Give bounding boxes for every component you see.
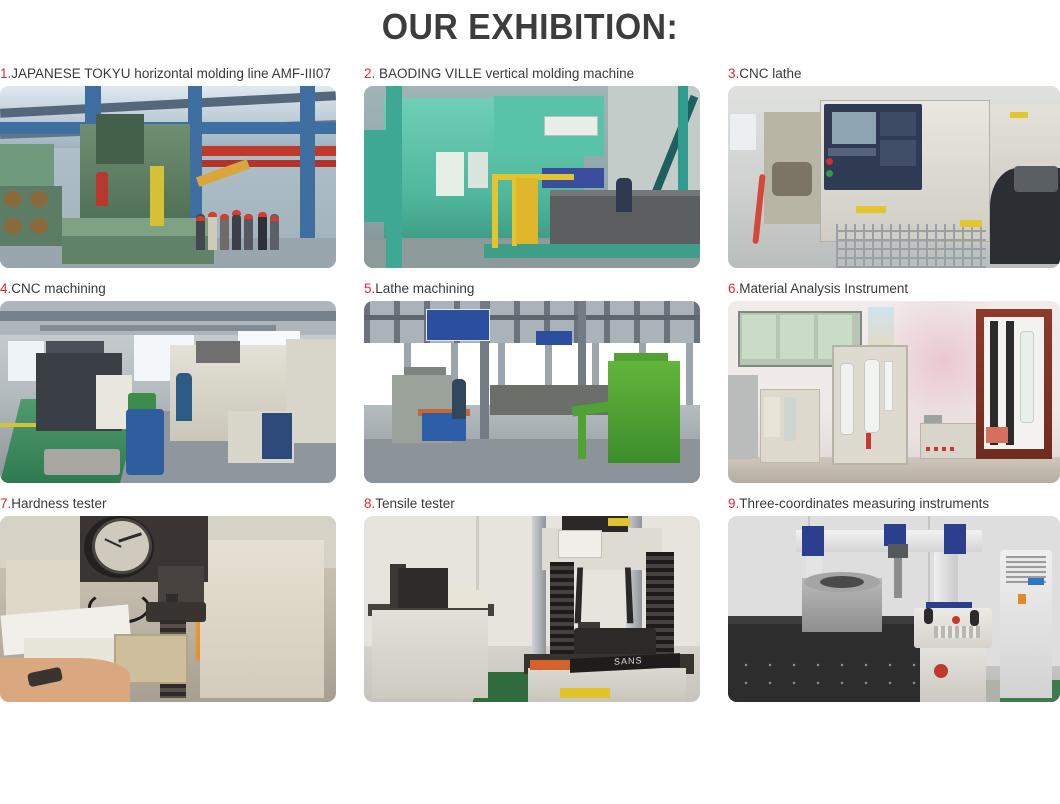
gallery-caption-text-1: JAPANESE TOKYU horizontal molding line A… xyxy=(11,66,331,81)
gallery-caption-text-3: CNC lathe xyxy=(739,66,801,81)
gallery-number-8: 8. xyxy=(364,496,375,511)
gallery-photo-5[interactable] xyxy=(364,301,700,483)
gallery-photo-9[interactable] xyxy=(728,516,1060,702)
gallery-row: 7.Hardness tester xyxy=(0,494,1060,702)
gallery-caption-5: 5.Lathe machining xyxy=(364,279,700,301)
exhibition-gallery: 1.JAPANESE TOKYU horizontal molding line… xyxy=(0,64,1060,713)
gallery-caption-text-5: Lathe machining xyxy=(375,281,474,296)
page-title: OUR EXHIBITION: xyxy=(32,4,1028,50)
gallery-item-5[interactable]: 5.Lathe machining xyxy=(364,279,700,483)
gallery-number-7: 7. xyxy=(0,496,11,511)
gallery-caption-text-8: Tensile tester xyxy=(375,496,455,511)
gallery-photo-2[interactable] xyxy=(364,86,700,268)
gallery-caption-text-2: BAODING VILLE vertical molding machine xyxy=(375,66,634,81)
gallery-row: 4.CNC machining xyxy=(0,279,1060,483)
gallery-number-3: 3. xyxy=(728,66,739,81)
gallery-photo-1[interactable] xyxy=(0,86,336,268)
gallery-caption-8: 8.Tensile tester xyxy=(364,494,700,516)
gallery-caption-text-9: Three-coordinates measuring instruments xyxy=(739,496,989,511)
gallery-photo-6[interactable] xyxy=(728,301,1060,483)
gallery-photo-7[interactable] xyxy=(0,516,336,702)
gallery-caption-3: 3.CNC lathe xyxy=(728,64,1060,86)
gallery-caption-7: 7.Hardness tester xyxy=(0,494,336,516)
gallery-item-9[interactable]: 9.Three-coordinates measuring instrument… xyxy=(728,494,1060,702)
gallery-caption-9: 9.Three-coordinates measuring instrument… xyxy=(728,494,1060,516)
gallery-row: 1.JAPANESE TOKYU horizontal molding line… xyxy=(0,64,1060,268)
gallery-item-3[interactable]: 3.CNC lathe xyxy=(728,64,1060,268)
gallery-caption-text-6: Material Analysis Instrument xyxy=(739,281,908,296)
gallery-photo-8[interactable]: SANS xyxy=(364,516,700,702)
gallery-number-6: 6. xyxy=(728,281,739,296)
gallery-number-1: 1. xyxy=(0,66,11,81)
gallery-photo-3[interactable] xyxy=(728,86,1060,268)
gallery-number-2: 2. xyxy=(364,66,375,81)
gallery-item-4[interactable]: 4.CNC machining xyxy=(0,279,336,483)
tensile-tester-brand-label: SANS xyxy=(614,655,643,666)
gallery-item-7[interactable]: 7.Hardness tester xyxy=(0,494,336,702)
gallery-item-8[interactable]: 8.Tensile tester xyxy=(364,494,700,702)
gallery-item-1[interactable]: 1.JAPANESE TOKYU horizontal molding line… xyxy=(0,64,336,268)
gallery-photo-4[interactable] xyxy=(0,301,336,483)
gallery-item-2[interactable]: 2. BAODING VILLE vertical molding machin… xyxy=(364,64,700,268)
gallery-caption-1: 1.JAPANESE TOKYU horizontal molding line… xyxy=(0,64,336,86)
gallery-caption-text-7: Hardness tester xyxy=(11,496,106,511)
gallery-number-5: 5. xyxy=(364,281,375,296)
gallery-caption-4: 4.CNC machining xyxy=(0,279,336,301)
gallery-caption-text-4: CNC machining xyxy=(11,281,106,296)
gallery-caption-6: 6.Material Analysis Instrument xyxy=(728,279,1060,301)
gallery-number-9: 9. xyxy=(728,496,739,511)
gallery-item-6[interactable]: 6.Material Analysis Instrument xyxy=(728,279,1060,483)
gallery-number-4: 4. xyxy=(0,281,11,296)
gallery-caption-2: 2. BAODING VILLE vertical molding machin… xyxy=(364,64,700,86)
